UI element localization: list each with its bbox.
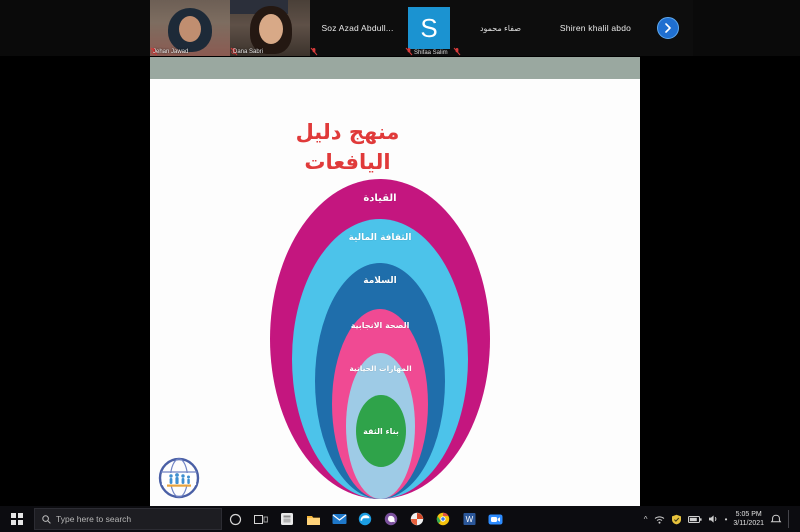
video-feed: [150, 0, 230, 56]
avatar: S: [408, 7, 450, 49]
video-feed: [230, 0, 310, 56]
network-icon[interactable]: [654, 514, 665, 524]
clock-date: 3/11/2021: [733, 519, 764, 528]
slide-top-band: [150, 57, 640, 79]
desktop-screen: Jehan Jawad Dana Sabri Soz Azad Abdull..…: [0, 0, 800, 532]
word-icon[interactable]: W: [456, 506, 482, 532]
zoom-icon[interactable]: [482, 506, 508, 532]
powerpoint-icon[interactable]: [404, 506, 430, 532]
participant-tile-soz-azad[interactable]: Soz Azad Abdull...: [310, 0, 405, 56]
organization-globe-logo: [158, 454, 200, 500]
search-input[interactable]: Type here to search: [34, 508, 222, 530]
mic-muted-icon: [310, 47, 318, 56]
task-view-icon[interactable]: [248, 506, 274, 532]
svg-text:W: W: [465, 515, 473, 524]
slide-title-line2: اليافعات: [260, 147, 435, 177]
participant-face: [259, 14, 283, 44]
participant-tile-shifaa-salim[interactable]: S Shifaa Salim: [405, 0, 453, 56]
defender-shield-icon[interactable]: [671, 514, 682, 525]
participant-tile-safaa-mahmoud[interactable]: صفاء محمود: [453, 0, 548, 56]
presentation-slide[interactable]: منهج دليل اليافعات القيادة الثقافة المال…: [150, 57, 640, 506]
cortana-circle-icon[interactable]: [222, 506, 248, 532]
show-desktop-button[interactable]: [788, 510, 794, 528]
participant-filmstrip: Jehan Jawad Dana Sabri Soz Azad Abdull..…: [150, 0, 670, 56]
file-explorer-icon[interactable]: [300, 506, 326, 532]
viber-icon[interactable]: [378, 506, 404, 532]
mic-muted-icon: [453, 47, 461, 56]
participant-name: Shiren khalil abdo: [560, 23, 631, 33]
slide-title: منهج دليل اليافعات: [260, 117, 435, 178]
system-tray: ^ • 5:05 PM 3/11/2021: [644, 510, 800, 529]
participant-name: صفاء محمود: [480, 24, 521, 33]
notification-icon[interactable]: [770, 514, 782, 525]
chevron-up-icon[interactable]: ^: [644, 515, 648, 524]
volume-icon[interactable]: [708, 514, 719, 524]
participant-tile-jehan-jawad[interactable]: Jehan Jawad: [150, 0, 230, 56]
ring-label: بناء الثقة: [363, 427, 399, 436]
nested-ovals-diagram: القيادة الثقافة المالية السلامة الصحة ال…: [270, 179, 490, 499]
mic-muted-icon: [405, 47, 413, 56]
windows-start-icon[interactable]: [0, 506, 34, 532]
participant-face: [179, 16, 201, 42]
diagram-ring-building-confidence: بناء الثقة: [356, 395, 406, 467]
participant-name: Dana Sabri: [233, 49, 263, 55]
search-placeholder: Type here to search: [56, 514, 131, 524]
google-chrome-icon[interactable]: [430, 506, 456, 532]
taskbar-clock[interactable]: 5:05 PM 3/11/2021: [733, 510, 764, 529]
participant-name: Soz Azad Abdull...: [321, 23, 393, 33]
language-indicator[interactable]: •: [725, 515, 728, 524]
search-icon: [42, 515, 51, 524]
mail-icon[interactable]: [326, 506, 352, 532]
battery-icon[interactable]: [688, 515, 702, 524]
participant-tile-dana-sabri[interactable]: Dana Sabri: [230, 0, 310, 56]
next-participants-button[interactable]: [643, 0, 693, 56]
microsoft-edge-icon[interactable]: [352, 506, 378, 532]
slide-canvas: منهج دليل اليافعات القيادة الثقافة المال…: [150, 79, 640, 506]
slide-title-line1: منهج دليل: [260, 117, 435, 147]
windows-taskbar: Type here to search: [0, 506, 800, 532]
clock-time: 5:05 PM: [733, 510, 764, 519]
participant-name: Jehan Jawad: [153, 49, 188, 55]
chevron-right-icon[interactable]: [657, 17, 679, 39]
shared-screen-stage: منهج دليل اليافعات القيادة الثقافة المال…: [0, 56, 800, 506]
microsoft-store-icon[interactable]: [274, 506, 300, 532]
participant-tile-shiren-khalil[interactable]: Shiren khalil abdo: [548, 0, 643, 56]
